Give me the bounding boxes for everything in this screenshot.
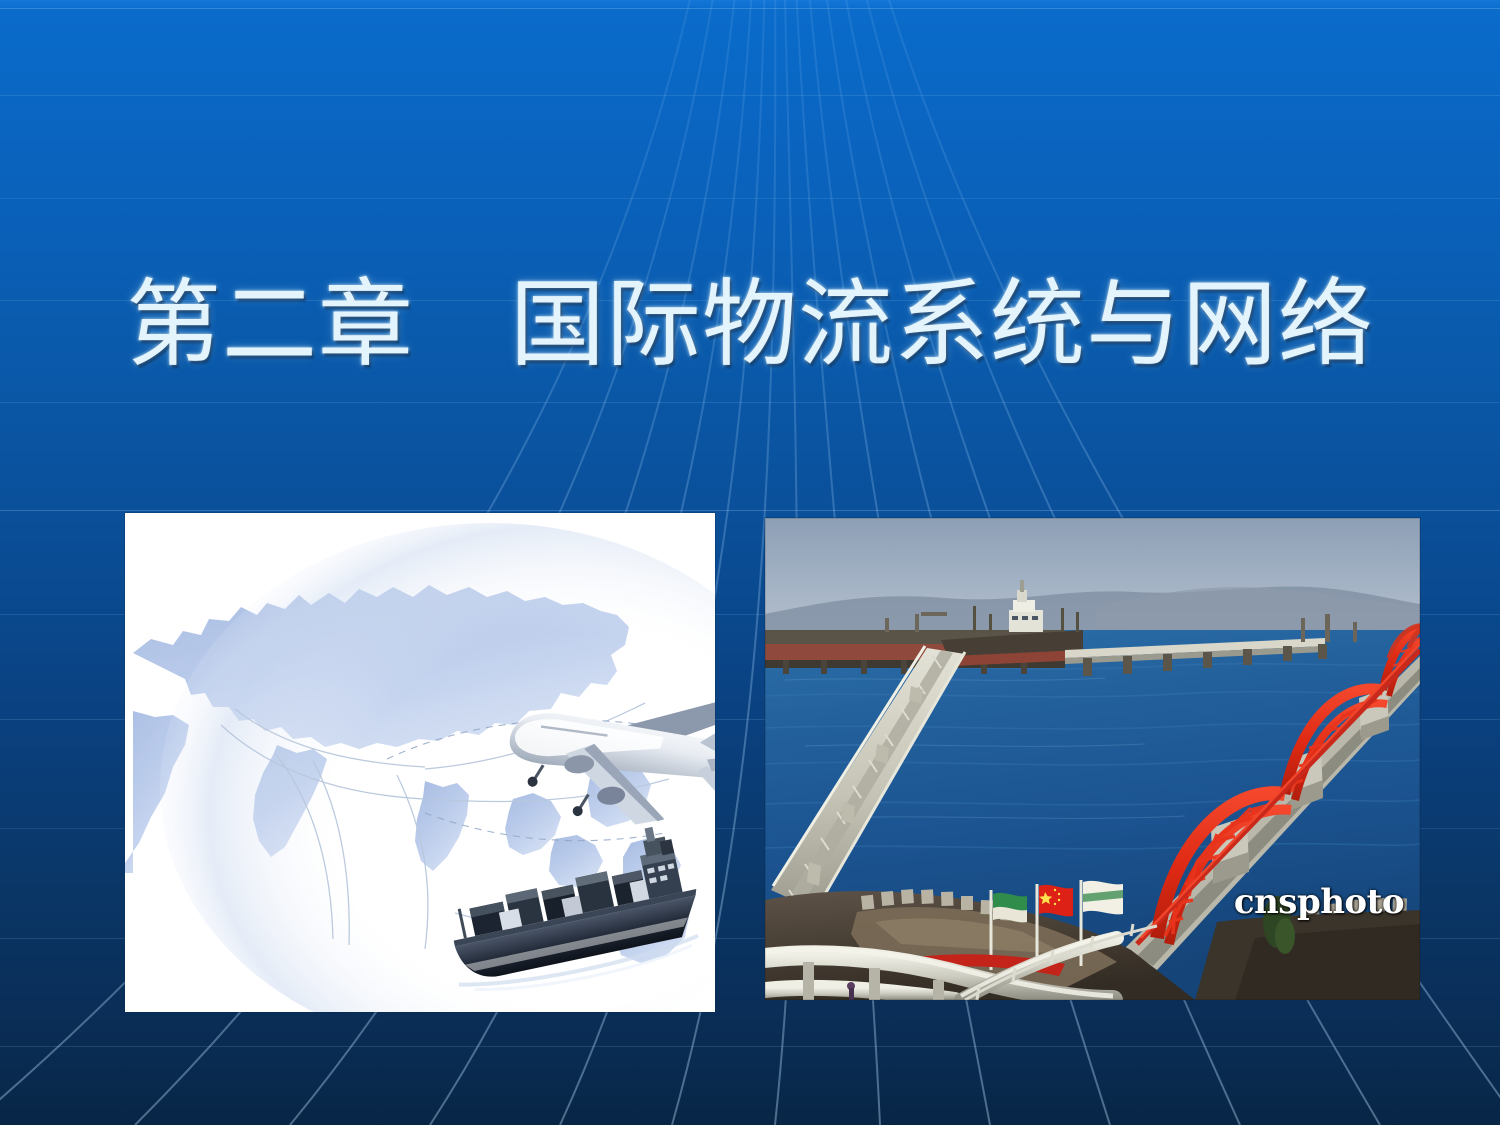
world-map-illustration-svg [125, 513, 715, 1012]
slide-canvas: 第二章 国际物流系统与网络 [0, 0, 1500, 1125]
port-bridge-photo-svg [765, 518, 1420, 1000]
image-left-world-logistics[interactable] [125, 513, 715, 1012]
photo-watermark: cnsphoto [1234, 882, 1404, 922]
image-right-port-bridge[interactable]: cnsphoto [765, 518, 1420, 1000]
